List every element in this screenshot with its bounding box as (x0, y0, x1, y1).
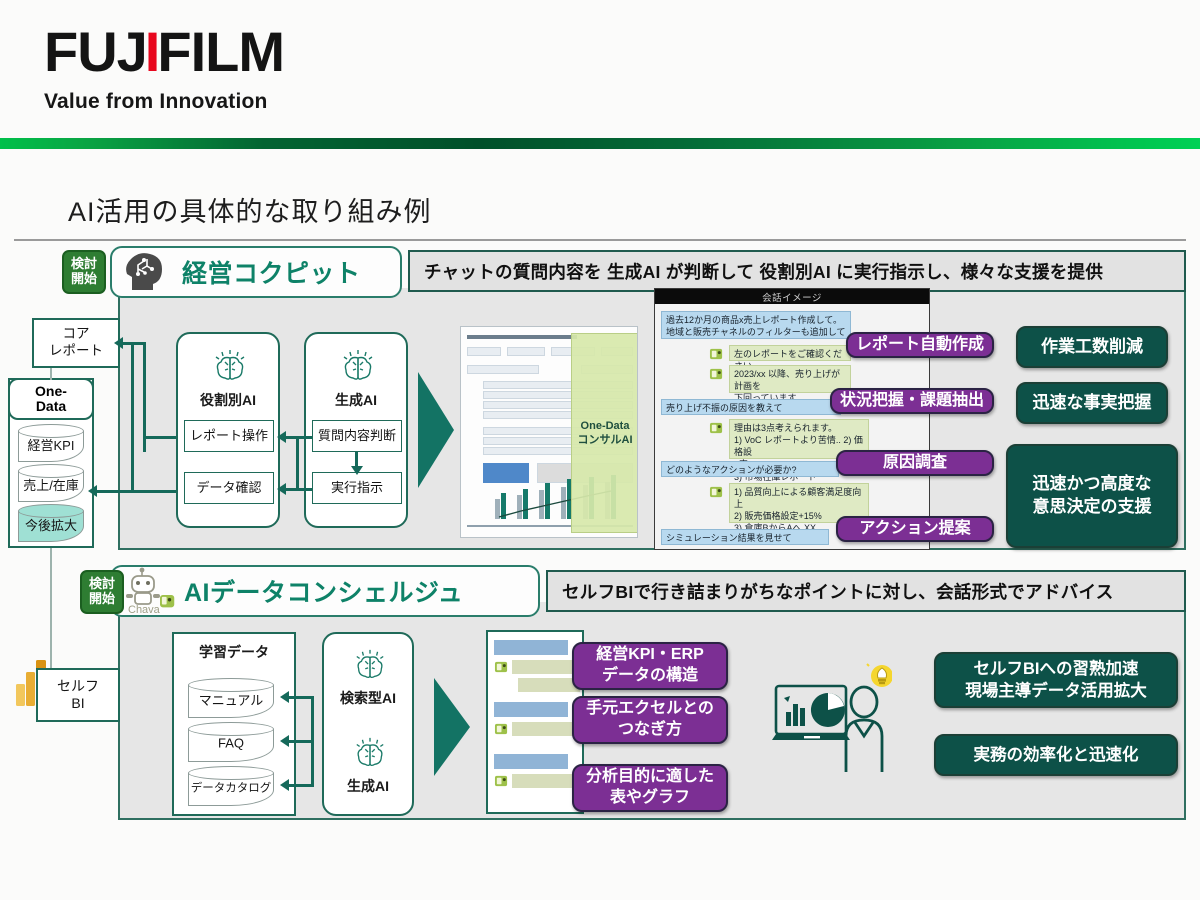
cockpit-tab-title: 経営コクピット (182, 254, 361, 290)
gen-ai-item-judge: 質問内容判断 (312, 420, 402, 452)
training-source-faq-label: FAQ (188, 736, 274, 751)
chat-bubble-user-4: シミュレーション結果を見せて (661, 529, 829, 545)
fujifilm-logo: FUJIFILM Value from Innovation (44, 24, 284, 114)
ai-type-search-label: 検索型AI (324, 688, 412, 708)
robot-icon: Chava (122, 567, 178, 615)
lightbulb-icon (867, 662, 892, 687)
concierge-tag-1-line1: 経営KPI・ERP (596, 645, 704, 666)
tag-situation-grasp: 状況把握・課題抽出 (830, 388, 994, 414)
report-thumbnail: One-Data コンサルAI (460, 326, 638, 538)
chat-bubble-user-1: 過去12か月の商品x売上レポート作成して。地域と販売チャネルのフィルターも追加し… (661, 311, 851, 339)
arrow-ai-to-catalog (280, 779, 289, 791)
onedata-overlay-line1: One-Data (581, 419, 630, 433)
onedata-overlay-line2: コンサルAI (578, 433, 633, 447)
head-ai-icon (122, 250, 168, 294)
role-ai-item-data-check: データ確認 (184, 472, 274, 504)
chat-bubble-ai-1: 左のレポートをご確認ください (729, 345, 851, 361)
line-left-vertical (131, 342, 134, 492)
agent-card-gen-ai-title: 生成AI (306, 390, 406, 410)
chat-bubble-user-3: どのようなアクションが必要か? (661, 461, 839, 477)
cockpit-badge-line2: 開始 (71, 272, 97, 287)
training-source-faq: FAQ (188, 722, 274, 762)
concierge-status-badge[interactable]: 検討 開始 (80, 570, 124, 614)
assistant-avatar-icon (494, 722, 509, 736)
training-source-catalog-label: データカタログ (188, 779, 274, 795)
brain-icon (338, 348, 378, 384)
self-bi-line1: セルフ (57, 678, 99, 696)
concierge-chat-user-2 (494, 702, 568, 717)
concierge-badge-line2: 開始 (89, 592, 115, 607)
benefit-decision-line1: 迅速かつ高度な (1033, 473, 1152, 496)
concierge-tag-kpi-erp: 経営KPI・ERP データの構造 (572, 642, 728, 690)
concierge-chat-ai-2 (512, 722, 574, 736)
concierge-benefit-efficiency: 実務の効率化と迅速化 (934, 734, 1178, 776)
concierge-benefit-2-label: 実務の効率化と迅速化 (974, 744, 1139, 766)
concierge-chat-ai-1 (512, 660, 574, 674)
arrow-judge-to-exec (351, 466, 363, 475)
brain-icon (351, 736, 389, 770)
tag-cause-research: 原因調査 (836, 450, 994, 476)
ai-type-gen-label: 生成AI (324, 776, 412, 796)
svg-text:Chava: Chava (128, 604, 161, 615)
arrow-onedata-in (88, 485, 97, 497)
cockpit-headline: チャットの質問内容を 生成AI が判断して 役割別AI に実行指示し、様々な支援… (408, 250, 1186, 292)
line-agent-bridge (296, 436, 299, 490)
benefit-fast-facts-label: 迅速な事実把握 (1033, 392, 1152, 415)
training-data-title: 学習データ (174, 642, 294, 662)
assistant-avatar-icon (709, 421, 724, 435)
logo-wordmark: FUJIFILM (44, 24, 284, 80)
arrow-exec-to-datacheck (277, 483, 286, 495)
concierge-chat-ai-3 (512, 774, 574, 788)
onedata-consult-ai-overlay: One-Data コンサルAI (571, 333, 638, 533)
tag-report-auto: レポート自動作成 (846, 332, 994, 358)
assistant-avatar-icon (709, 367, 724, 381)
assistant-avatar-icon (709, 347, 724, 361)
chat-bubble-ai-2: 2023/xx 以降、売り上げが計画を下回っています (729, 365, 851, 393)
benefit-fast-facts: 迅速な事実把握 (1016, 382, 1168, 424)
role-ai-item-report-op: レポート操作 (184, 420, 274, 452)
logo-text-part2: FILM (157, 24, 284, 80)
concierge-tag-2-line2: つなぎ方 (618, 720, 682, 741)
onedata-line1: One- (35, 384, 67, 399)
concierge-tab[interactable]: Chava AIデータコンシェルジュ (110, 565, 540, 617)
benefit-work-reduction: 作業工数削減 (1016, 326, 1168, 368)
concierge-benefit-1-line1: セルフBIへの習熟加速 (974, 658, 1139, 680)
concierge-chat-user-1 (494, 640, 568, 655)
arrow-ai-to-manual (280, 691, 289, 703)
logo-text-part1: FUJ (44, 24, 147, 80)
concierge-badge-line1: 検討 (89, 577, 115, 592)
arrow-judge-to-reportop (277, 431, 286, 443)
cockpit-status-badge[interactable]: 検討 開始 (62, 250, 106, 294)
concierge-tab-title: AIデータコンシェルジュ (184, 573, 463, 609)
line-core-to-onedata (50, 368, 52, 380)
page-title: AI活用の具体的な取り組み例 (68, 190, 432, 229)
training-source-manual: マニュアル (188, 678, 274, 718)
title-divider (14, 239, 1186, 241)
assistant-avatar-icon (494, 660, 509, 674)
core-report-box: コア レポート (32, 318, 120, 368)
arrow-ai-to-faq (280, 735, 289, 747)
line-ai-trunk (311, 696, 314, 787)
concierge-tag-3-line1: 分析目的に適した (586, 767, 714, 788)
concierge-tag-1-line2: データの構造 (602, 666, 698, 687)
assistant-avatar-icon (709, 485, 724, 499)
datastore-future-label: 今後拡大 (18, 515, 84, 534)
concierge-benefit-selfbi: セルフBIへの習熟加速 現場主導データ活用拡大 (934, 652, 1178, 708)
datastore-sales: 売上/在庫 (18, 464, 84, 502)
slide-root: FUJIFILM Value from Innovation AI活用の具体的な… (0, 0, 1200, 900)
training-source-manual-label: マニュアル (188, 690, 274, 709)
benefit-decision-line2: 意思決定の支援 (1033, 496, 1152, 519)
datastore-future: 今後拡大 (18, 504, 84, 542)
concierge-chat-user-3 (494, 754, 568, 769)
concierge-tag-3-line2: 表やグラフ (610, 788, 690, 809)
line-onedata-in (96, 490, 134, 493)
self-bi-line2: BI (71, 695, 84, 713)
datastore-sales-label: 売上/在庫 (18, 475, 84, 494)
self-bi-box: セルフ BI (36, 668, 120, 722)
ai-types-card: 検索型AI 生成AI (322, 632, 414, 816)
training-source-catalog: データカタログ (188, 766, 274, 806)
core-report-line1: コア (63, 326, 90, 343)
concierge-benefit-1-line2: 現場主導データ活用拡大 (965, 680, 1147, 702)
cockpit-badge-line1: 検討 (71, 257, 97, 272)
chat-bubble-user-2: 売り上げ不振の原因を教えて (661, 399, 841, 415)
logo-tagline: Value from Innovation (44, 90, 284, 114)
core-report-line2: レポート (49, 343, 103, 360)
chat-mock-header: 会話イメージ (655, 289, 929, 304)
datastore-kpi-label: 経営KPI (18, 435, 84, 454)
flow-arrow-cockpit (416, 370, 456, 490)
brain-icon (351, 648, 389, 682)
agent-card-role-ai-title: 役割別AI (178, 390, 278, 410)
concierge-tag-excel: 手元エクセルとの つなぎ方 (572, 696, 728, 744)
tag-action-proposal: アクション提案 (836, 516, 994, 542)
arrow-core-report (114, 337, 123, 349)
datastore-kpi: 経営KPI (18, 424, 84, 462)
brand-green-divider (0, 138, 1200, 149)
gen-ai-item-exec: 実行指示 (312, 472, 402, 504)
person-laptop-idea-icon (772, 662, 892, 778)
chat-mock-concierge (486, 630, 584, 814)
assistant-avatar-icon (494, 774, 509, 788)
onedata-line2: Data (36, 399, 66, 414)
line-onedata-to-selfbi (50, 548, 52, 674)
concierge-tag-2-line1: 手元エクセルとの (586, 699, 714, 720)
chat-mock-cockpit: 会話イメージ 過去12か月の商品x売上レポート作成して。地域と販売チャネルのフィ… (654, 288, 930, 550)
cockpit-tab[interactable]: 経営コクピット (110, 246, 402, 298)
brain-icon (210, 348, 250, 384)
concierge-headline: セルフBIで行き詰まりがちなポイントに対し、会話形式でアドバイス (546, 570, 1186, 612)
flow-arrow-concierge (432, 676, 472, 778)
benefit-decision-support: 迅速かつ高度な 意思決定の支援 (1006, 444, 1178, 548)
onedata-label-box: One- Data (8, 378, 94, 420)
concierge-chat-ai-1b (518, 678, 580, 692)
concierge-tag-charts: 分析目的に適した 表やグラフ (572, 764, 728, 812)
